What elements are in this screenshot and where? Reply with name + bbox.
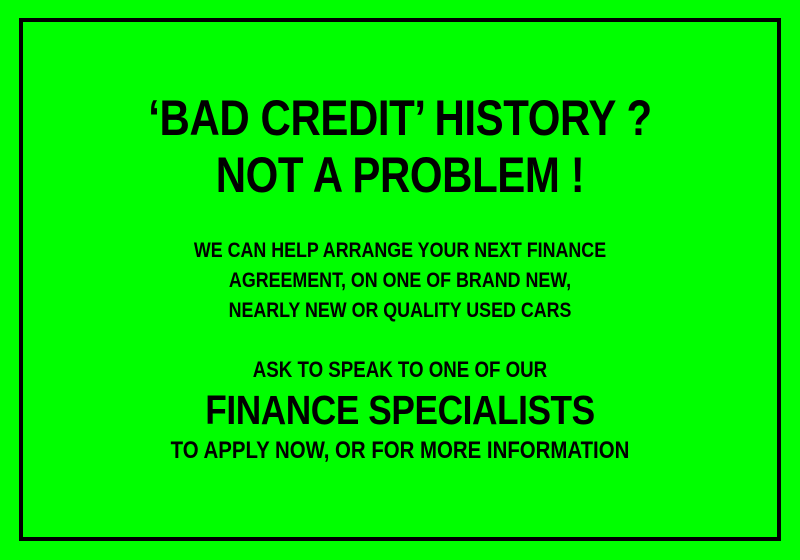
call-to-action-line: TO APPLY NOW, OR FOR MORE INFORMATION	[76, 435, 724, 466]
headline-line-2: NOT A PROBLEM !	[80, 147, 720, 204]
headline-block: ‘BAD CREDIT’ HISTORY ? NOT A PROBLEM !	[19, 90, 781, 204]
body-block-one: WE CAN HELP ARRANGE YOUR NEXT FINANCE AG…	[19, 236, 781, 325]
body-line-2: AGREEMENT, ON ONE OF BRAND NEW,	[76, 266, 724, 296]
subhead-line: ASK TO SPEAK TO ONE OF OUR	[76, 355, 724, 385]
advert-poster: ‘BAD CREDIT’ HISTORY ? NOT A PROBLEM ! W…	[0, 0, 800, 560]
body-block-two: ASK TO SPEAK TO ONE OF OUR FINANCE SPECI…	[19, 355, 781, 466]
headline-line-1: ‘BAD CREDIT’ HISTORY ?	[80, 90, 720, 147]
poster-content: ‘BAD CREDIT’ HISTORY ? NOT A PROBLEM ! W…	[19, 18, 781, 541]
body-line-1: WE CAN HELP ARRANGE YOUR NEXT FINANCE	[76, 236, 724, 266]
body-line-3: NEARLY NEW OR QUALITY USED CARS	[76, 296, 724, 326]
feature-line: FINANCE SPECIALISTS	[72, 385, 727, 435]
